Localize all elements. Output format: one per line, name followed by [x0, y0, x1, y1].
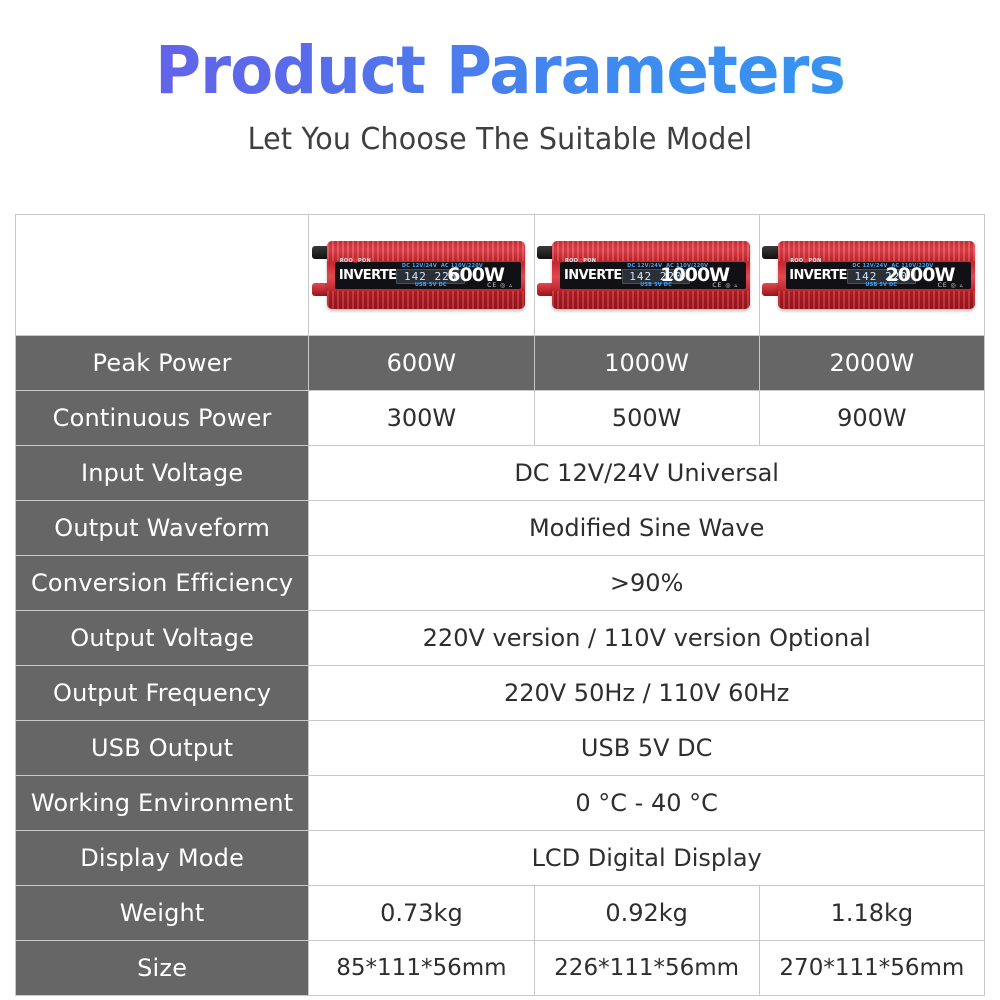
table-row: Continuous Power300W500W900W: [16, 391, 985, 446]
row-label-5: Output Voltage: [16, 611, 309, 666]
dc-input-label-0: DC 12V/24V: [402, 263, 437, 269]
row-label-3: Output Waveform: [16, 501, 309, 556]
row-value-0-0: 600W: [309, 336, 534, 391]
inverter-faceplate: ROO■PON DC 12V/24V AC 110V/220V INVERTER…: [786, 262, 972, 289]
row-value-10-0: 0.73kg: [309, 886, 534, 941]
usb-output-label-0: USB 5V DC: [415, 282, 447, 288]
usb-output-label-2: USB 5V DC: [865, 282, 897, 288]
certification-marks-icon-2: CE ◎ ▵: [938, 282, 964, 289]
image-row-spacer: [16, 215, 309, 336]
product-image-0: ROO■PON DC 12V/24V AC 110V/220V INVERTER…: [309, 227, 533, 323]
product-image-1: ROO■PON DC 12V/24V AC 110V/220V INVERTER…: [535, 227, 759, 323]
product-cell-1[interactable]: ROO■PON DC 12V/24V AC 110V/220V INVERTER…: [534, 215, 759, 336]
row-value-merged-3: Modified Sine Wave: [309, 501, 985, 556]
row-value-10-2: 1.18kg: [759, 886, 984, 941]
dc-input-label-1: DC 12V/24V: [627, 263, 662, 269]
certification-marks-icon-0: CE ◎ ▵: [487, 282, 513, 289]
row-label-7: USB Output: [16, 721, 309, 776]
row-label-6: Output Frequency: [16, 666, 309, 721]
row-value-1-0: 300W: [309, 391, 534, 446]
product-image-row: ROO■PON DC 12V/24V AC 110V/220V INVERTER…: [16, 215, 985, 336]
row-value-0-1: 1000W: [534, 336, 759, 391]
row-value-merged-9: LCD Digital Display: [309, 831, 985, 886]
heatsink-fins-bottom-icon: [327, 291, 524, 309]
table-row: Peak Power600W1000W2000W: [16, 336, 985, 391]
row-value-1-1: 500W: [534, 391, 759, 446]
row-label-4: Conversion Efficiency: [16, 556, 309, 611]
product-image-2: ROO■PON DC 12V/24V AC 110V/220V INVERTER…: [760, 227, 984, 323]
dc-input-label-2: DC 12V/24V: [852, 263, 887, 269]
brand-label-1: ROO■PON: [565, 258, 596, 264]
table-row: Weight0.73kg0.92kg1.18kg: [16, 886, 985, 941]
row-label-11: Size: [16, 941, 309, 996]
product-parameters-page: Product Parameters Let You Choose The Su…: [0, 0, 1000, 1000]
table-row: Output WaveformModified Sine Wave: [16, 501, 985, 556]
inverter-body: ROO■PON DC 12V/24V AC 110V/220V INVERTER…: [778, 241, 975, 309]
row-value-merged-6: 220V 50Hz / 110V 60Hz: [309, 666, 985, 721]
certification-marks-icon-1: CE ◎ ▵: [712, 282, 738, 289]
table-row: USB OutputUSB 5V DC: [16, 721, 985, 776]
product-cell-2[interactable]: ROO■PON DC 12V/24V AC 110V/220V INVERTER…: [759, 215, 984, 336]
row-value-0-2: 2000W: [759, 336, 984, 391]
row-value-11-0: 85*111*56mm: [309, 941, 534, 996]
row-label-0: Peak Power: [16, 336, 309, 391]
spec-table-body: ROO■PON DC 12V/24V AC 110V/220V INVERTER…: [16, 215, 985, 996]
table-row: Size85*111*56mm226*111*56mm270*111*56mm: [16, 941, 985, 996]
heatsink-fins-bottom-icon: [552, 291, 749, 309]
row-label-10: Weight: [16, 886, 309, 941]
row-value-merged-7: USB 5V DC: [309, 721, 985, 776]
table-row: Output Frequency220V 50Hz / 110V 60Hz: [16, 666, 985, 721]
inverter-faceplate: ROO■PON DC 12V/24V AC 110V/220V INVERTER…: [560, 262, 745, 289]
inverter-body: ROO■PON DC 12V/24V AC 110V/220V INVERTER…: [552, 241, 749, 309]
inverter-body: ROO■PON DC 12V/24V AC 110V/220V INVERTER…: [327, 241, 524, 309]
inverter-faceplate: ROO■PON DC 12V/24V AC 110V/220V INVERTER…: [335, 262, 520, 289]
row-label-9: Display Mode: [16, 831, 309, 886]
row-label-8: Working Environment: [16, 776, 309, 831]
row-label-1: Continuous Power: [16, 391, 309, 446]
table-row: Input VoltageDC 12V/24V Universal: [16, 446, 985, 501]
spec-table: ROO■PON DC 12V/24V AC 110V/220V INVERTER…: [15, 214, 985, 996]
spec-table-wrapper: ROO■PON DC 12V/24V AC 110V/220V INVERTER…: [15, 214, 985, 996]
brand-label-0: ROO■PON: [340, 258, 371, 264]
table-row: Display ModeLCD Digital Display: [16, 831, 985, 886]
row-value-10-1: 0.92kg: [534, 886, 759, 941]
row-value-merged-8: 0 °C - 40 °C: [309, 776, 985, 831]
table-row: Output Voltage220V version / 110V versio…: [16, 611, 985, 666]
row-value-1-2: 900W: [759, 391, 984, 446]
usb-output-label-1: USB 5V DC: [640, 282, 672, 288]
page-title: Product Parameters: [25, 38, 975, 104]
page-header: Product Parameters Let You Choose The Su…: [0, 0, 1000, 157]
page-subtitle: Let You Choose The Suitable Model: [25, 122, 975, 157]
table-row: Working Environment0 °C - 40 °C: [16, 776, 985, 831]
row-value-merged-2: DC 12V/24V Universal: [309, 446, 985, 501]
row-value-merged-4: >90%: [309, 556, 985, 611]
product-cell-0[interactable]: ROO■PON DC 12V/24V AC 110V/220V INVERTER…: [309, 215, 534, 336]
row-value-11-1: 226*111*56mm: [534, 941, 759, 996]
table-row: Conversion Efficiency>90%: [16, 556, 985, 611]
row-value-merged-5: 220V version / 110V version Optional: [309, 611, 985, 666]
heatsink-fins-bottom-icon: [778, 291, 975, 309]
brand-label-2: ROO■PON: [790, 258, 821, 264]
row-label-2: Input Voltage: [16, 446, 309, 501]
row-value-11-2: 270*111*56mm: [759, 941, 984, 996]
